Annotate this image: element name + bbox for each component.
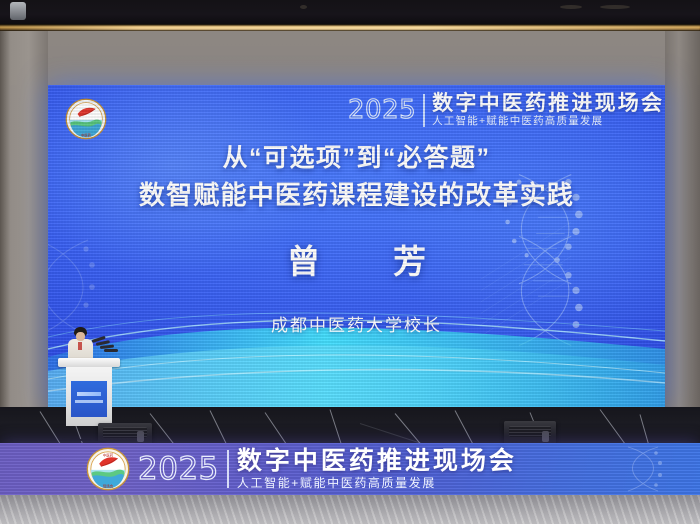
podium-body — [66, 367, 112, 426]
svg-text:中医药: 中医药 — [103, 453, 114, 458]
presenter — [66, 327, 94, 361]
podium-top — [58, 358, 120, 367]
conference-stage-scene: 中医药 2025 数字中医药推进现场会 人工智能+赋能中医药高质量发展 从“可选… — [0, 0, 700, 524]
header-divider — [423, 94, 425, 127]
screen-content: 从“可选项”到“必答题” 数智赋能中医药课程建设的改革实践 曾 芳 成都中医药大… — [48, 140, 665, 336]
podium-display-text — [75, 400, 103, 403]
svg-text:现场会: 现场会 — [103, 483, 114, 488]
ceiling — [0, 0, 700, 26]
banner-content: 中医药 现场会 2025 数字中医药推进现场会 人工智能+赋能中医药高质量发展 — [86, 447, 517, 491]
header-subtitle: 人工智能+赋能中医药高质量发展 — [432, 116, 664, 128]
conference-emblem-icon: 中医药 现场会 — [86, 447, 130, 491]
ceiling-fixture-icon — [600, 5, 630, 9]
banner-main-title: 数字中医药推进现场会 — [237, 448, 517, 474]
presentation-title-line2: 数智赋能中医药课程建设的改革实践 — [48, 176, 665, 215]
dna-helix-icon — [618, 445, 688, 493]
ceiling-light-glow — [0, 26, 700, 30]
presenter-face — [76, 332, 85, 341]
presenter-lanyard — [78, 342, 82, 350]
podium-microphones — [92, 338, 124, 354]
ceiling-fixture-icon — [560, 5, 582, 9]
header-main-title: 数字中医药推进现场会 — [432, 93, 664, 115]
banner-subtitle: 人工智能+赋能中医药高质量发展 — [237, 477, 517, 490]
screen-header: 2025 数字中医药推进现场会 人工智能+赋能中医药高质量发展 — [348, 93, 664, 128]
speaker-role: 成都中医药大学校长 — [48, 311, 665, 336]
podium-display-logo — [77, 392, 101, 396]
presentation-title-line1: 从“可选项”到“必答题” — [48, 140, 665, 176]
ceiling-spotlight-icon — [10, 2, 26, 20]
header-year: 2025 — [348, 97, 416, 123]
svg-text:中医药: 中医药 — [81, 133, 92, 138]
bottom-led-banner: 中医药 现场会 2025 数字中医药推进现场会 人工智能+赋能中医药高质量发展 — [0, 443, 700, 495]
speaker-name: 曾 芳 — [48, 235, 665, 283]
ceiling-fixture-icon — [300, 5, 307, 9]
conference-emblem-icon: 中医药 — [65, 98, 107, 140]
banner-year: 2025 — [138, 454, 219, 485]
podium-display — [71, 381, 107, 417]
main-led-screen: 中医药 2025 数字中医药推进现场会 人工智能+赋能中医药高质量发展 从“可选… — [48, 85, 665, 407]
speaker-podium — [58, 358, 120, 426]
wall-column-right — [665, 31, 700, 431]
stage-floor — [0, 495, 700, 524]
banner-divider — [227, 450, 229, 488]
wall-column-left — [0, 31, 48, 431]
